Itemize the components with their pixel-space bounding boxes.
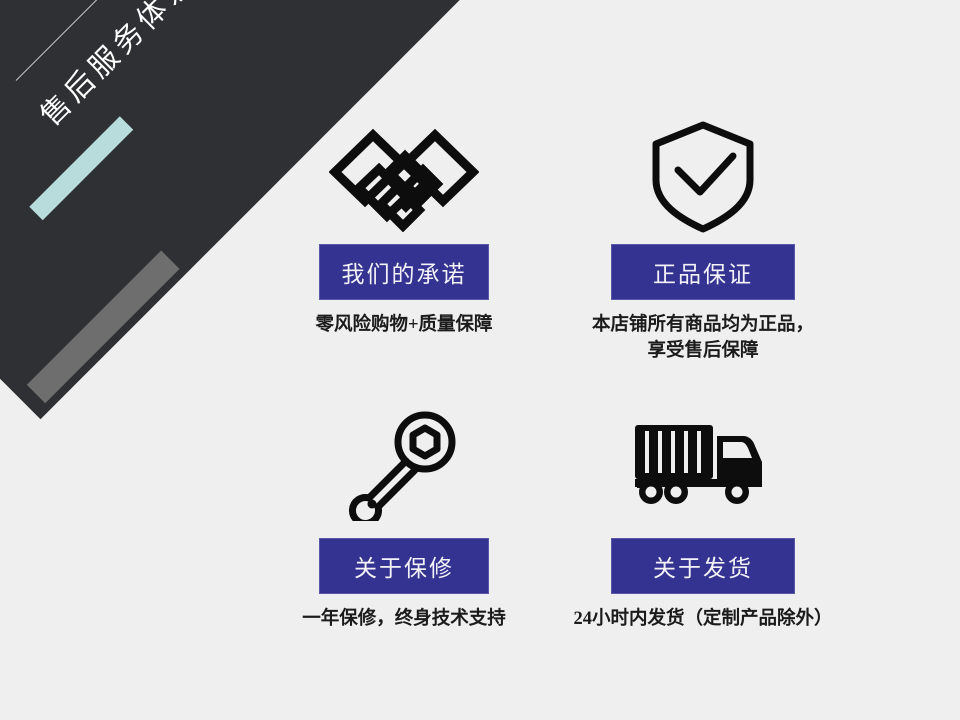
feature-card-shipping: 关于发货 24小时内发货（定制产品除外） [550, 402, 856, 652]
feature-card-promise: 我们的承诺 零风险购物+质量保障 [258, 112, 550, 402]
warranty-button[interactable]: 关于保修 [319, 538, 489, 594]
warranty-caption: 一年保修，终身技术支持 [258, 607, 550, 633]
authenticity-button[interactable]: 正品保证 [611, 244, 795, 300]
shipping-button[interactable]: 关于发货 [611, 538, 795, 594]
feature-card-warranty: 关于保修 一年保修，终身技术支持 [258, 402, 550, 652]
slide-canvas: 售后服务体系 [0, 0, 960, 720]
shipping-caption: 24小时内发货（定制产品除外） [550, 607, 856, 633]
promise-caption: 零风险购物+质量保障 [258, 313, 550, 339]
feature-grid: 我们的承诺 零风险购物+质量保障 正品保证 本店铺所有商品均为正品， 享受售后保… [258, 112, 918, 652]
feature-card-authenticity: 正品保证 本店铺所有商品均为正品， 享受售后保障 [550, 112, 856, 402]
handshake-icon [258, 112, 550, 244]
delivery-truck-icon [550, 402, 856, 528]
socket-wrench-icon [258, 402, 550, 528]
shield-check-icon [550, 112, 856, 244]
promise-button[interactable]: 我们的承诺 [319, 244, 489, 300]
authenticity-caption: 本店铺所有商品均为正品， 享受售后保障 [550, 313, 856, 364]
